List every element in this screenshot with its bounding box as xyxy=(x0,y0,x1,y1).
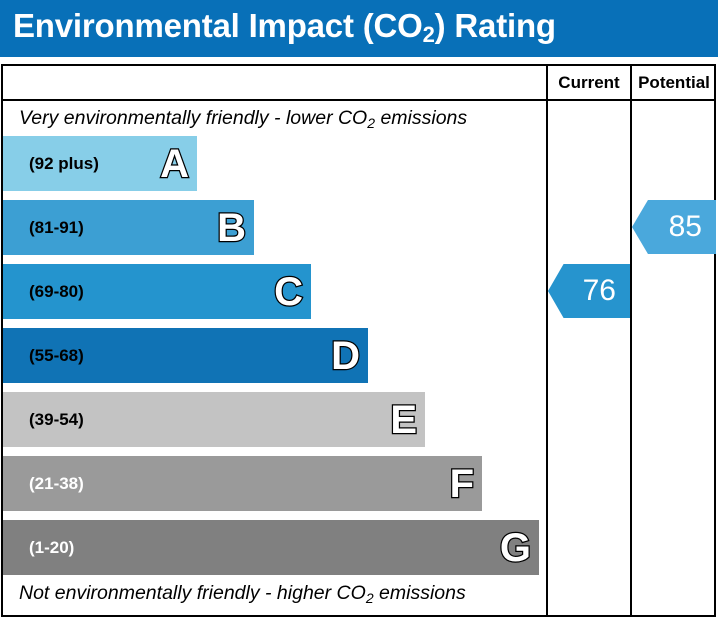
band-e: (39-54)E xyxy=(3,392,425,447)
band-range-f: (21-38) xyxy=(29,474,84,494)
band-range-g: (1-20) xyxy=(29,538,74,558)
column-header-current: Current xyxy=(548,66,630,99)
band-letter-a: A xyxy=(160,144,189,184)
page-title: Environmental Impact (CO2) Rating xyxy=(13,7,556,45)
chart-grid: Current Potential Very environmentally f… xyxy=(1,64,716,617)
chart-title-bar: Environmental Impact (CO2) Rating xyxy=(0,0,718,57)
band-letter-c: C xyxy=(274,272,303,312)
caption-bottom-subscript: 2 xyxy=(366,590,374,606)
epc-environmental-impact-chart: Environmental Impact (CO2) Rating Curren… xyxy=(0,0,718,619)
caption-top: Very environmentally friendly - lower CO… xyxy=(19,107,467,130)
band-f: (21-38)F xyxy=(3,456,482,511)
band-letter-g: G xyxy=(500,528,531,568)
current-rating-value: 76 xyxy=(583,276,616,306)
band-range-d: (55-68) xyxy=(29,346,84,366)
band-letter-e: E xyxy=(390,400,417,440)
column-header-potential: Potential xyxy=(632,66,716,99)
band-range-c: (69-80) xyxy=(29,282,84,302)
band-g: (1-20)G xyxy=(3,520,539,575)
band-letter-f: F xyxy=(450,464,474,504)
band-b: (81-91)B xyxy=(3,200,254,255)
caption-bottom: Not environmentally friendly - higher CO… xyxy=(19,582,466,605)
potential-rating-value: 85 xyxy=(669,212,702,242)
band-a: (92 plus)A xyxy=(3,136,197,191)
title-subscript: 2 xyxy=(423,22,435,47)
current-rating-arrow: 76 xyxy=(548,264,630,318)
potential-column-divider xyxy=(630,66,632,615)
band-d: (55-68)D xyxy=(3,328,368,383)
band-range-e: (39-54) xyxy=(29,410,84,430)
band-letter-d: D xyxy=(331,336,360,376)
band-range-a: (92 plus) xyxy=(29,154,99,174)
potential-rating-arrow: 85 xyxy=(632,200,716,254)
band-range-b: (81-91) xyxy=(29,218,84,238)
band-c: (69-80)C xyxy=(3,264,311,319)
header-divider xyxy=(3,99,714,101)
caption-top-subscript: 2 xyxy=(367,115,375,131)
current-column-divider xyxy=(546,66,548,615)
band-letter-b: B xyxy=(217,208,246,248)
